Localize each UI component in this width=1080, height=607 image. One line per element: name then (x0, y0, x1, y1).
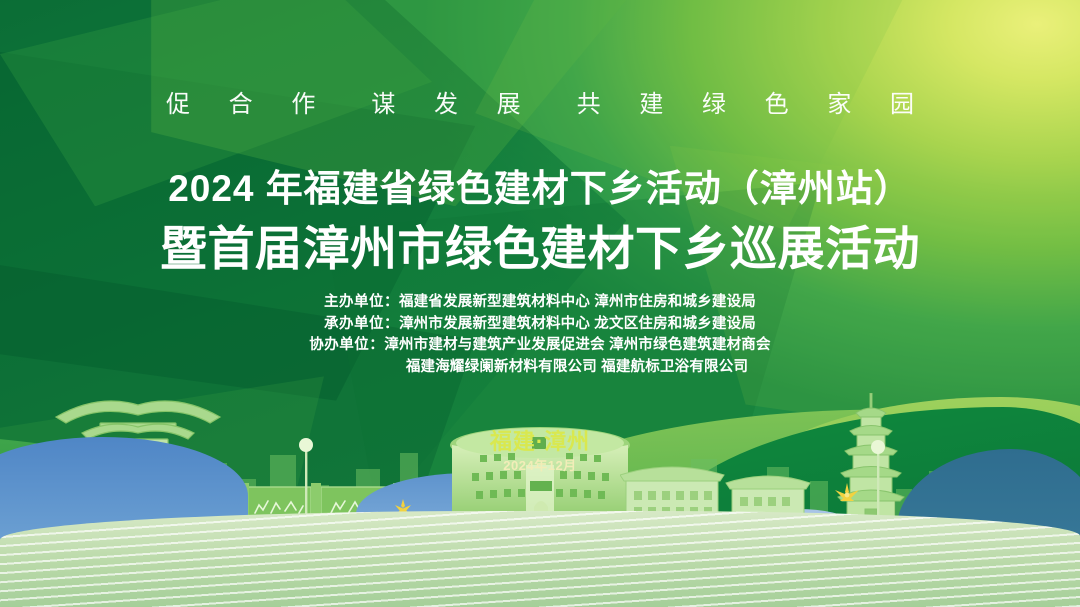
organizer-label-coorganizer: 协办单位： (309, 337, 384, 353)
poster-tagline: 促 合 作 谋 发 展 共 建 绿 色 家 园 (0, 84, 1080, 119)
poster-title-line1: 2024 年福建省绿色建材下乡活动（漳州站） (0, 158, 1080, 212)
organizer-row-continued: 福建海耀绿阑新材料有限公司 福建航标卫浴有限公司 (0, 357, 1080, 379)
organizer-row-host: 主办单位：福建省发展新型建筑材料中心 漳州市住房和城乡建设局 (0, 292, 1080, 314)
organizer-value-coorganizer: 漳州市建材与建筑产业发展促进会 漳州市绿色建筑建材商会 (384, 337, 770, 353)
event-date: 2024年12月 (0, 455, 1080, 474)
event-poster: 礼义廉耻 (0, 0, 1080, 607)
poster-title-line2: 暨首届漳州市绿色建材下乡巡展活动 (0, 210, 1080, 279)
organizer-value-undertaker: 漳州市发展新型建筑材料中心 龙文区住房和城乡建设局 (399, 316, 756, 332)
organizer-row-coorganizer: 协办单位：漳州市建材与建筑产业发展促进会 漳州市绿色建筑建材商会 (0, 335, 1080, 357)
blossom-right-icon (832, 481, 862, 505)
organizer-row-undertaker: 承办单位：漳州市发展新型建筑材料中心 龙文区住房和城乡建设局 (0, 314, 1080, 336)
organizer-label-host: 主办单位： (324, 294, 399, 310)
organizers-block: 主办单位：福建省发展新型建筑材料中心 漳州市住房和城乡建设局 承办单位：漳州市发… (0, 292, 1080, 378)
terraced-field-foreground (0, 511, 1080, 607)
organizer-value-host: 福建省发展新型建筑材料中心 漳州市住房和城乡建设局 (399, 294, 756, 310)
organizer-label-undertaker: 承办单位： (324, 316, 399, 332)
event-place: 福建·漳州 (0, 424, 1080, 456)
